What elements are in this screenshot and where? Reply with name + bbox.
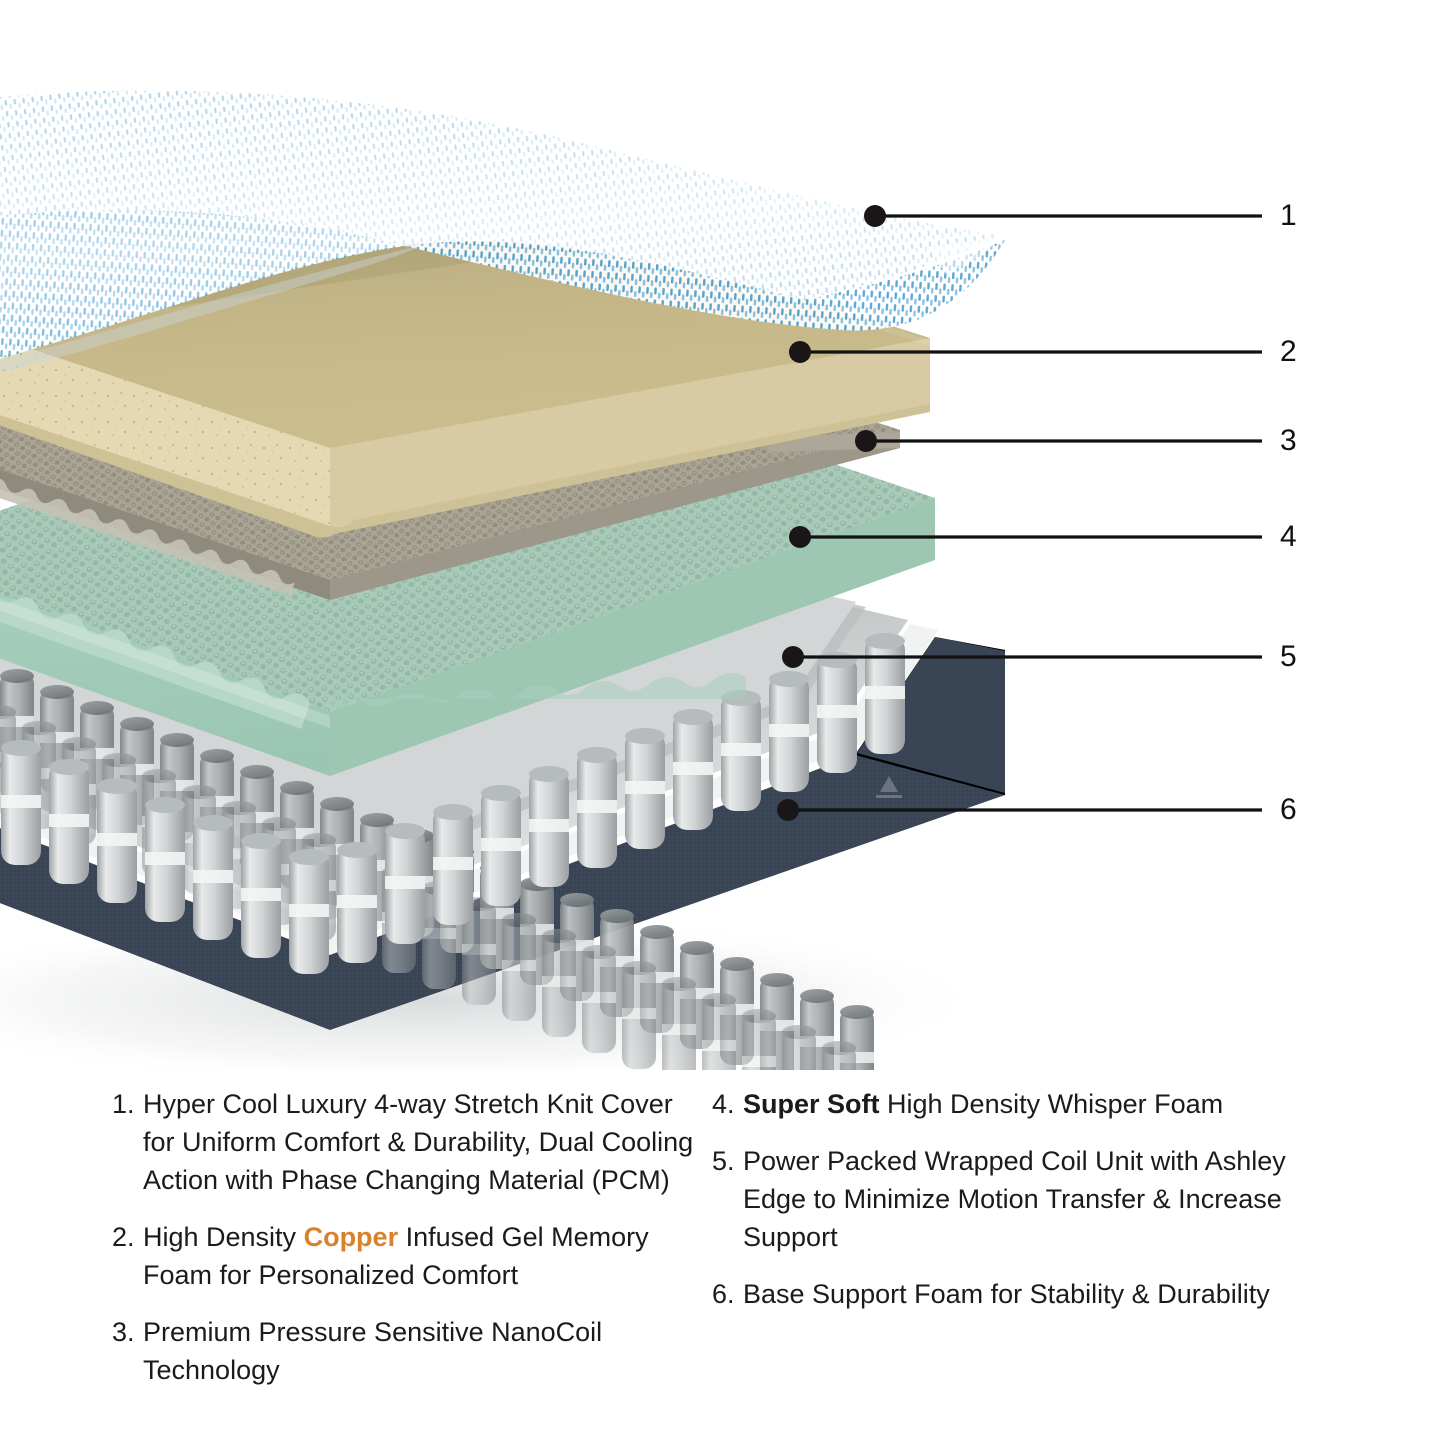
legend-column-left: 1.Hyper Cool Luxury 4-way Stretch Knit C… (112, 1085, 702, 1408)
leader-dot-2 (789, 341, 811, 363)
legend-text-span: High Density Whisper Foam (880, 1089, 1224, 1119)
legend-copper-emphasis: Copper (304, 1222, 399, 1252)
legend-item-text: Premium Pressure Sensitive NanoCoil Tech… (143, 1313, 702, 1389)
legend-item: 3.Premium Pressure Sensitive NanoCoil Te… (112, 1313, 702, 1389)
leader-dot-3 (855, 430, 877, 452)
legend-item-text: Power Packed Wrapped Coil Unit with Ashl… (743, 1142, 1332, 1256)
callout-label-2: 2 (1280, 337, 1297, 367)
legend-text-span: Hyper Cool Luxury 4-way Stretch Knit Cov… (143, 1089, 693, 1195)
legend-item-index: 1. (112, 1085, 143, 1123)
leader-dot-6 (777, 799, 799, 821)
legend-item: 6.Base Support Foam for Stability & Dura… (712, 1275, 1332, 1313)
legend-item: 1.Hyper Cool Luxury 4-way Stretch Knit C… (112, 1085, 702, 1199)
callout-label-6: 6 (1280, 795, 1297, 825)
legend-item-text: Hyper Cool Luxury 4-way Stretch Knit Cov… (143, 1085, 702, 1199)
leader-dot-4 (789, 526, 811, 548)
legend-item-index: 5. (712, 1142, 743, 1180)
legend-item: 2.High Density Copper Infused Gel Memory… (112, 1218, 702, 1294)
legend-column-right: 4.Super Soft High Density Whisper Foam5.… (712, 1085, 1332, 1332)
legend-item-text: Base Support Foam for Stability & Durabi… (743, 1275, 1332, 1313)
legend-text-span: Base Support Foam for Stability & Durabi… (743, 1279, 1270, 1309)
leader-dot-5 (782, 646, 804, 668)
legend-item-index: 3. (112, 1313, 143, 1351)
callout-label-3: 3 (1280, 426, 1297, 456)
callout-label-1: 1 (1280, 201, 1297, 231)
callout-label-5: 5 (1280, 642, 1297, 672)
legend-item-index: 6. (712, 1275, 743, 1313)
legend-emphasis: Super Soft (743, 1089, 880, 1119)
legend-text-span: High Density (143, 1222, 304, 1252)
legend-text-span: Premium Pressure Sensitive NanoCoil Tech… (143, 1317, 602, 1385)
legend-item-index: 2. (112, 1218, 143, 1256)
legend: 1.Hyper Cool Luxury 4-way Stretch Knit C… (0, 1085, 1445, 1405)
legend-item: 4.Super Soft High Density Whisper Foam (712, 1085, 1332, 1123)
callout-label-4: 4 (1280, 522, 1297, 552)
legend-item-index: 4. (712, 1085, 743, 1123)
leader-dot-1 (864, 205, 886, 227)
legend-text-span: Power Packed Wrapped Coil Unit with Ashl… (743, 1146, 1286, 1252)
legend-item-text: High Density Copper Infused Gel Memory F… (143, 1218, 702, 1294)
legend-item: 5.Power Packed Wrapped Coil Unit with As… (712, 1142, 1332, 1256)
mattress-cutaway-diagram: 1 2 3 4 5 6 (0, 0, 1445, 1070)
legend-item-text: Super Soft High Density Whisper Foam (743, 1085, 1332, 1123)
